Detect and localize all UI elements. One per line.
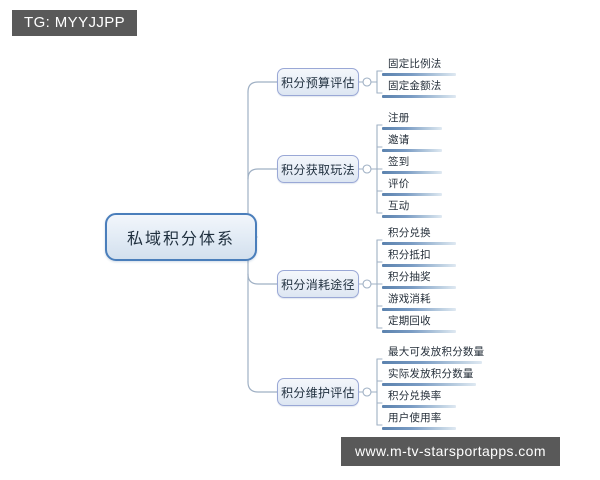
leaf-underline — [382, 286, 456, 289]
leaf-underline — [382, 242, 456, 245]
leaf-node-label: 游戏消耗 — [382, 293, 431, 306]
leaf-node-label: 注册 — [382, 112, 409, 125]
leaf-node[interactable]: 积分抵扣 — [382, 249, 431, 269]
mindmap-canvas: 私域积分体系 积分预算评估固定比例法固定金额法积分获取玩法注册邀请签到评价互动积… — [0, 0, 600, 480]
leaf-underline — [382, 73, 456, 76]
root-node[interactable]: 私域积分体系 — [105, 213, 257, 261]
leaf-underline — [382, 264, 456, 267]
branch-node-label: 积分预算评估 — [281, 74, 355, 91]
leaf-node[interactable]: 游戏消耗 — [382, 293, 431, 313]
leaf-node-label: 固定比例法 — [382, 58, 442, 71]
leaf-node[interactable]: 积分抽奖 — [382, 271, 431, 291]
leaf-underline — [382, 193, 442, 196]
watermark-telegram-text: TG: MYYJJPP — [24, 14, 125, 31]
leaf-underline — [382, 361, 482, 364]
leaf-node-label: 定期回收 — [382, 315, 431, 328]
watermark-telegram: TG: MYYJJPP — [12, 10, 137, 36]
leaf-underline — [382, 383, 476, 386]
leaf-node[interactable]: 积分兑换 — [382, 227, 431, 247]
leaf-node-label: 固定金额法 — [382, 80, 442, 93]
leaf-node-label: 实际发放积分数量 — [382, 368, 474, 381]
leaf-underline — [382, 215, 442, 218]
leaf-node[interactable]: 互动 — [382, 200, 409, 220]
leaf-node[interactable]: 最大可发放积分数量 — [382, 346, 484, 366]
branch-node-1[interactable]: 积分预算评估 — [277, 68, 359, 96]
leaf-node[interactable]: 实际发放积分数量 — [382, 368, 474, 388]
branch-node-label: 积分消耗途径 — [281, 276, 355, 293]
leaf-node[interactable]: 签到 — [382, 156, 409, 176]
leaf-underline — [382, 330, 456, 333]
watermark-website-text: www.m-tv-starsportapps.com — [355, 443, 546, 459]
leaf-node-label: 评价 — [382, 178, 409, 191]
leaf-node[interactable]: 固定金额法 — [382, 80, 442, 100]
watermark-website: www.m-tv-starsportapps.com — [341, 437, 560, 466]
leaf-node[interactable]: 定期回收 — [382, 315, 431, 335]
leaf-underline — [382, 427, 456, 430]
branch-node-label: 积分维护评估 — [281, 384, 355, 401]
root-node-label: 私域积分体系 — [127, 225, 235, 249]
leaf-node-label: 积分兑换 — [382, 227, 431, 240]
leaf-node-label: 积分抵扣 — [382, 249, 431, 262]
leaf-node-label: 最大可发放积分数量 — [382, 346, 484, 359]
branch-node-3[interactable]: 积分消耗途径 — [277, 270, 359, 298]
leaf-underline — [382, 95, 456, 98]
leaf-node-label: 积分抽奖 — [382, 271, 431, 284]
leaf-node-label: 用户使用率 — [382, 412, 442, 425]
branch-node-4[interactable]: 积分维护评估 — [277, 378, 359, 406]
leaf-underline — [382, 171, 442, 174]
leaf-node[interactable]: 积分兑换率 — [382, 390, 442, 410]
leaf-node[interactable]: 固定比例法 — [382, 58, 442, 78]
leaf-underline — [382, 149, 442, 152]
branch-node-label: 积分获取玩法 — [281, 161, 355, 178]
branch-node-2[interactable]: 积分获取玩法 — [277, 155, 359, 183]
leaf-node-label: 邀请 — [382, 134, 409, 147]
leaf-underline — [382, 127, 442, 130]
leaf-underline — [382, 308, 456, 311]
leaf-node-label: 互动 — [382, 200, 409, 213]
leaf-node-label: 签到 — [382, 156, 409, 169]
leaf-node-label: 积分兑换率 — [382, 390, 442, 403]
leaf-node[interactable]: 邀请 — [382, 134, 409, 154]
leaf-node[interactable]: 用户使用率 — [382, 412, 442, 432]
leaf-node[interactable]: 评价 — [382, 178, 409, 198]
leaf-underline — [382, 405, 456, 408]
leaf-node[interactable]: 注册 — [382, 112, 409, 132]
